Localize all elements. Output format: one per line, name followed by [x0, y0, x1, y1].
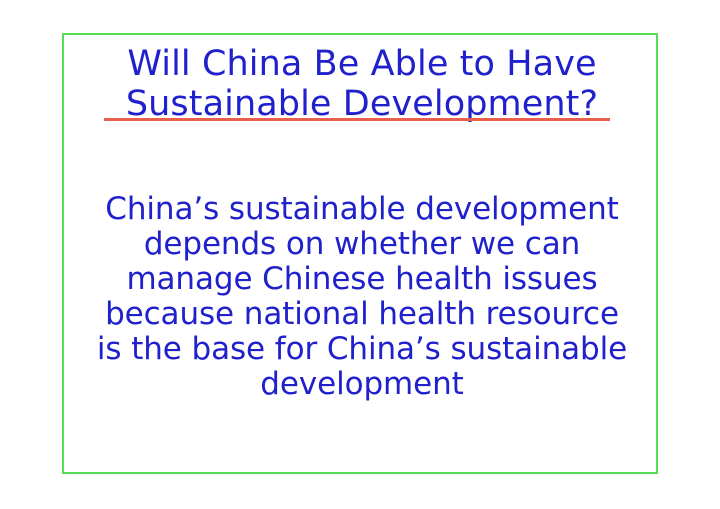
- slide-body-line-2: depends on whether we can: [64, 227, 660, 262]
- slide-content-frame: Will China Be Able to Have Sustainable D…: [62, 33, 658, 474]
- slide-body-line-1: China’s sustainable development: [64, 192, 660, 227]
- slide-body-line-5: is the base for China’s sustainable: [64, 332, 660, 367]
- title-underline-rule: [104, 118, 610, 121]
- slide-body-line-6: development: [64, 367, 660, 402]
- slide-body-text: China’s sustainable development depends …: [64, 192, 660, 402]
- slide-title: Will China Be Able to Have Sustainable D…: [64, 44, 660, 124]
- slide-body-line-4: because national health resource: [64, 297, 660, 332]
- slide-title-line-1: Will China Be Able to Have: [64, 44, 660, 84]
- slide-body-line-3: manage Chinese health issues: [64, 262, 660, 297]
- presentation-slide: Will China Be Able to Have Sustainable D…: [0, 0, 720, 509]
